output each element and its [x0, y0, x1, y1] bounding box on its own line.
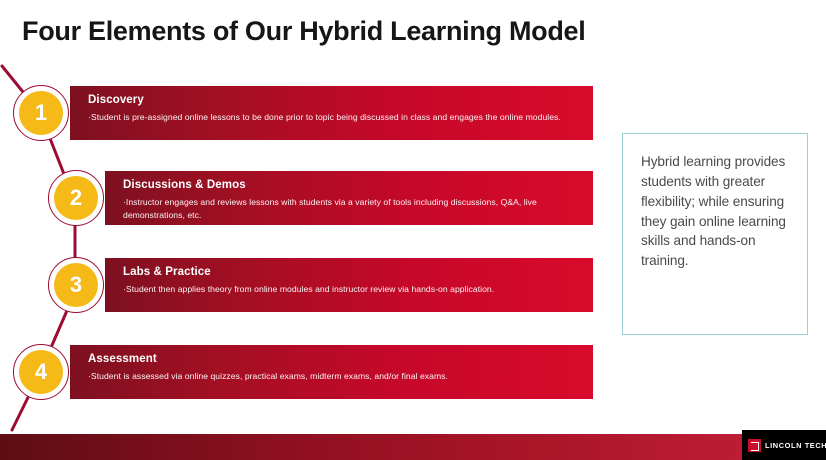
step-2-number: 2 [70, 187, 82, 209]
step-4-number: 4 [35, 361, 47, 383]
step-2-badge[interactable]: 2 [48, 170, 104, 226]
step-3-badge[interactable]: 3 [48, 257, 104, 313]
step-1-body: ·Student is pre-assigned online lessons … [88, 111, 579, 123]
step-2-bar: Discussions & Demos ·Instructor engages … [105, 171, 593, 225]
page-title: Four Elements of Our Hybrid Learning Mod… [22, 16, 585, 47]
step-4-badge[interactable]: 4 [13, 344, 69, 400]
step-3-number: 3 [70, 274, 82, 296]
step-2-title: Discussions & Demos [123, 178, 579, 192]
lincoln-tech-logo: LINCOLN TECH [742, 430, 826, 460]
step-1-badge[interactable]: 1 [13, 85, 69, 141]
step-1-title: Discovery [88, 93, 579, 107]
step-3-body: ·Student then applies theory from online… [123, 283, 579, 295]
step-3-badge-fill: 3 [54, 263, 98, 307]
step-3-title: Labs & Practice [123, 265, 579, 279]
step-4-body: ·Student is assessed via online quizzes,… [88, 370, 579, 382]
step-2-badge-fill: 2 [54, 176, 98, 220]
step-1-number: 1 [35, 102, 47, 124]
lincoln-tech-wordmark: LINCOLN TECH [765, 441, 826, 450]
step-4-title: Assessment [88, 352, 579, 366]
step-4-badge-fill: 4 [19, 350, 63, 394]
step-4-bar: Assessment ·Student is assessed via onli… [70, 345, 593, 399]
step-3-bar: Labs & Practice ·Student then applies th… [105, 258, 593, 312]
step-1-badge-fill: 1 [19, 91, 63, 135]
step-1-bar: Discovery ·Student is pre-assigned onlin… [70, 86, 593, 140]
slide-canvas: Four Elements of Our Hybrid Learning Mod… [0, 0, 826, 460]
footer-gradient-bar [0, 434, 826, 460]
callout-text: Hybrid learning provides students with g… [641, 152, 793, 271]
step-2-body: ·Instructor engages and reviews lessons … [123, 196, 579, 220]
callout-box: Hybrid learning provides students with g… [622, 133, 808, 335]
lincoln-tech-mark-icon [748, 439, 761, 452]
